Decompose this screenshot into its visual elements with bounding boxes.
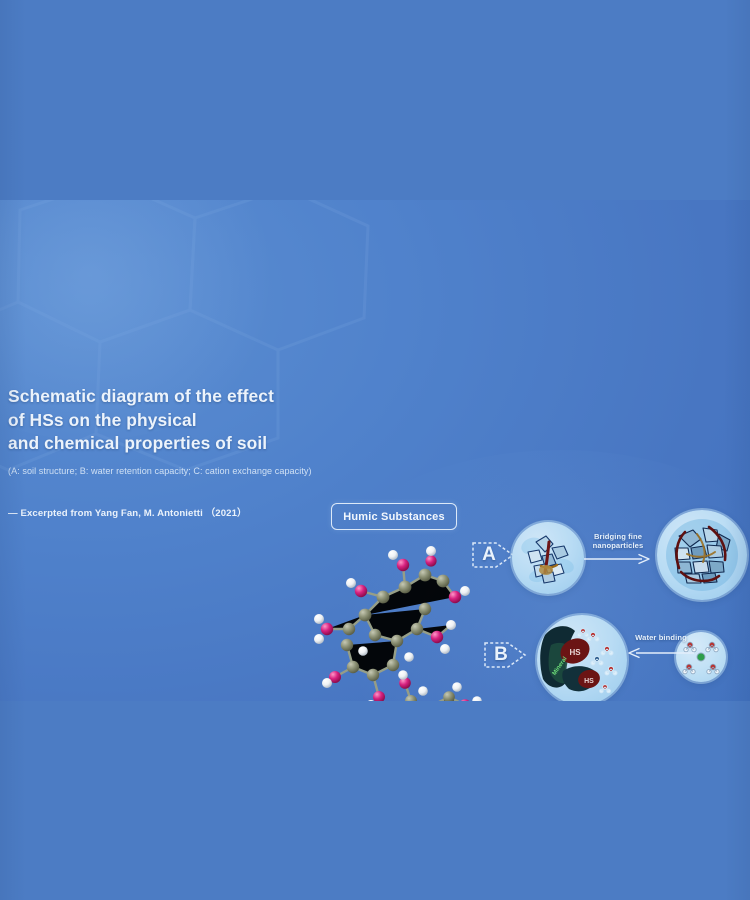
svg-text:HS: HS xyxy=(584,678,594,685)
flow-caption-b: Water binding xyxy=(631,633,691,642)
figure-subtitle: (A: soil structure; B: water retention c… xyxy=(8,465,338,477)
scene-a-before xyxy=(512,522,584,594)
caption-block: Schematic diagram of the effect of HSs o… xyxy=(8,385,338,519)
flow-caption-a-line1: Bridging fine xyxy=(583,532,653,541)
figure-title: Schematic diagram of the effect of HSs o… xyxy=(8,385,338,456)
title-line-3: and chemical properties of soil xyxy=(8,432,338,456)
svg-text:HS: HS xyxy=(569,648,581,657)
figure-credit: — Excerpted from Yang Fan, M. Antonietti… xyxy=(8,505,338,519)
page-edge-left xyxy=(0,0,26,900)
page-edge-right xyxy=(724,0,750,900)
flow-caption-b-line1: Water binding xyxy=(631,633,691,642)
bottom-background-band xyxy=(0,700,750,900)
humic-substance-molecule xyxy=(305,525,490,701)
panel-tag-a-letter: A xyxy=(477,534,501,576)
panel-tag-b: B xyxy=(482,634,528,676)
schematic-panel: Schematic diagram of the effect of HSs o… xyxy=(0,200,750,701)
title-line-1: Schematic diagram of the effect xyxy=(8,385,338,409)
figure-canvas: Schematic diagram of the effect of HSs o… xyxy=(0,0,750,900)
panel-tag-a: A xyxy=(470,534,516,576)
flow-arrow-a-icon xyxy=(584,553,652,565)
title-line-2: of HSs on the physical xyxy=(8,409,338,433)
panel-tag-b-letter: B xyxy=(489,634,513,676)
flow-caption-a-line2: nanoparticles xyxy=(583,541,653,550)
flow-arrow-b-icon xyxy=(628,647,694,659)
flow-caption-a: Bridging fine nanoparticles xyxy=(583,532,653,551)
scene-b-before: HS HS Mineral xyxy=(537,615,627,701)
top-background-band xyxy=(0,0,750,201)
